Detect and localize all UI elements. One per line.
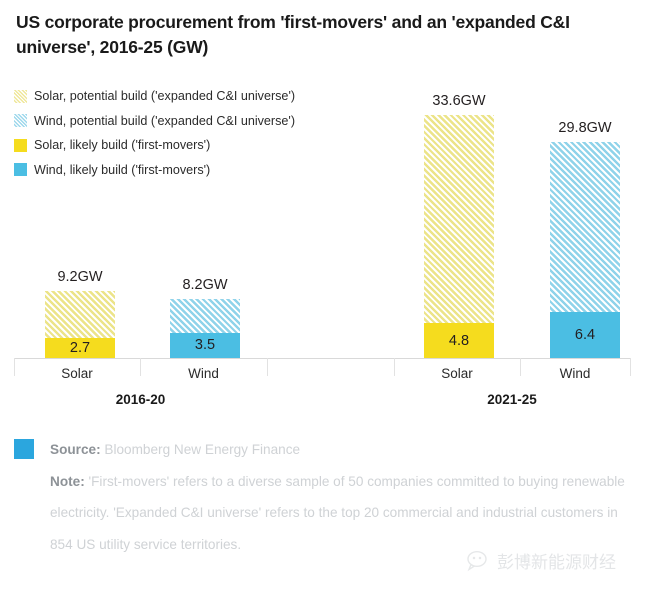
- chart-footer: Source: Bloomberg New Energy Finance Not…: [14, 434, 634, 560]
- bar-segment-potential[interactable]: [170, 299, 240, 333]
- bar-segment-likely[interactable]: 2.7: [45, 338, 115, 358]
- bar-segment-likely[interactable]: 6.4: [550, 312, 620, 358]
- stacked-bar[interactable]: 6.4: [550, 142, 620, 358]
- bar-total-label: 29.8GW: [558, 120, 611, 136]
- bar-segment-value: 3.5: [170, 337, 240, 353]
- watermark-text: 彭博新能源财经: [497, 548, 616, 573]
- stacked-bar[interactable]: 2.7: [45, 291, 115, 358]
- axis-baseline: [14, 358, 631, 359]
- bar-segment-potential[interactable]: [45, 291, 115, 338]
- source-marker-icon: [14, 439, 34, 459]
- chart-title: US corporate procurement from 'first-mov…: [16, 10, 630, 60]
- period-label-2021-25: 2021-25: [394, 392, 630, 407]
- bar-group-2021-25-wind: 6.429.8GW: [550, 100, 620, 358]
- bar-group-2016-20-wind: 3.58.2GW: [170, 100, 240, 358]
- category-label-wind-2021: Wind: [520, 366, 630, 381]
- category-label-wind-2016: Wind: [140, 366, 267, 381]
- bar-segment-value: 4.8: [424, 333, 494, 349]
- note-value: 'First-movers' refers to a diverse sampl…: [50, 474, 625, 552]
- bar-segment-likely[interactable]: 3.5: [170, 333, 240, 358]
- bar-group-2021-25-solar: 4.833.6GW: [424, 100, 494, 358]
- axis-tick: [267, 358, 268, 376]
- plot-area: 2.79.2GW3.58.2GW4.833.6GW6.429.8GW: [0, 100, 645, 358]
- category-axis: Solar Wind Solar Wind 2016-20 2021-25: [0, 358, 645, 408]
- bar-group-2016-20-solar: 2.79.2GW: [45, 100, 115, 358]
- bar-total-label: 33.6GW: [432, 93, 485, 109]
- bar-segment-likely[interactable]: 4.8: [424, 323, 494, 358]
- bar-segment-potential[interactable]: [424, 115, 494, 323]
- category-label-solar-2021: Solar: [394, 366, 520, 381]
- stacked-bar[interactable]: 3.5: [170, 299, 240, 358]
- wechat-icon: [466, 550, 492, 572]
- period-label-2016-20: 2016-20: [14, 392, 267, 407]
- stacked-bar[interactable]: 4.8: [424, 115, 494, 358]
- watermark: 彭博新能源财经: [466, 548, 616, 573]
- bar-segment-potential[interactable]: [550, 142, 620, 311]
- footer-text: Source: Bloomberg New Energy Finance Not…: [50, 434, 634, 560]
- bar-total-label: 9.2GW: [57, 269, 102, 285]
- bar-segment-value: 6.4: [550, 327, 620, 343]
- source-label: Source:: [50, 442, 101, 457]
- axis-tick: [630, 358, 631, 376]
- category-label-solar-2016: Solar: [14, 366, 140, 381]
- note-label: Note:: [50, 474, 85, 489]
- bar-segment-value: 2.7: [45, 340, 115, 356]
- bar-total-label: 8.2GW: [182, 277, 227, 293]
- source-value: Bloomberg New Energy Finance: [101, 442, 300, 457]
